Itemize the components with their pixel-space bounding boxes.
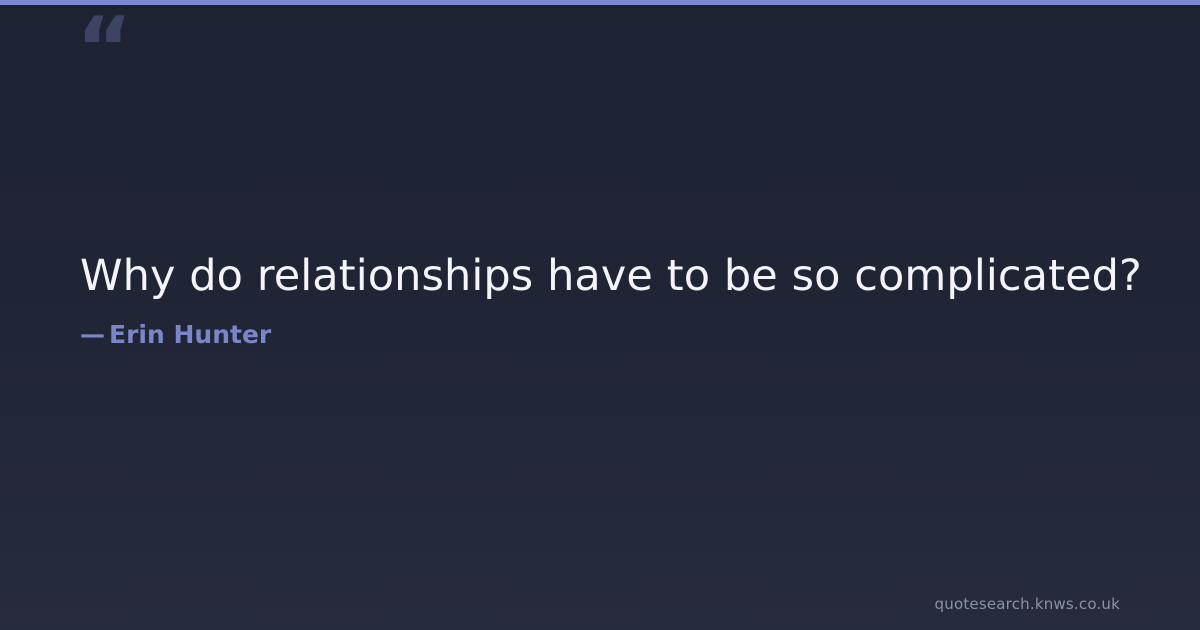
attribution-author-name: Erin Hunter xyxy=(109,320,271,349)
opening-quotation-mark-icon: “ xyxy=(76,6,133,92)
quote-body: Why do relationships have to be so compl… xyxy=(80,250,1120,350)
quote-text: Why do relationships have to be so compl… xyxy=(80,250,1120,302)
quote-card: “ Why do relationships have to be so com… xyxy=(0,0,1200,630)
site-watermark: quotesearch.knws.co.uk xyxy=(935,597,1120,612)
attribution-dash: — xyxy=(80,320,109,350)
quote-attribution: —Erin Hunter xyxy=(80,302,1120,350)
top-accent-bar xyxy=(0,0,1200,5)
